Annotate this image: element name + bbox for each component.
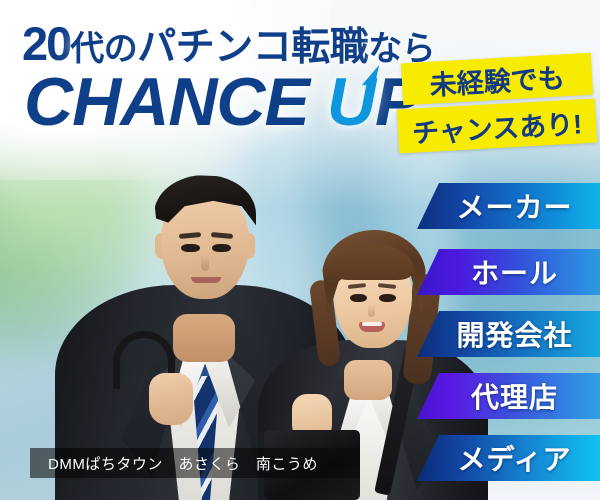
logo-chance-up: CHANCEUP [24,68,419,136]
category-button-media[interactable]: メディア [417,435,600,481]
category-button-developer[interactable]: 開発会社 [417,311,600,357]
category-label-agency: 代理店 [471,376,558,416]
male-mouth [191,277,221,283]
female-neck [344,360,392,400]
headline-rest: 代の [70,30,137,68]
logo-u-arrow: U [327,68,375,136]
headline-number: 20 [22,17,70,70]
female-teeth [362,322,382,326]
male-neck [173,314,235,362]
male-nose [201,255,209,271]
logo-chance: CHANCE [24,64,309,140]
category-label-maker: メーカー [456,186,572,226]
category-button-agency[interactable]: 代理店 [417,373,600,419]
category-button-maker[interactable]: メーカー [417,183,600,229]
male-eye-left [181,244,200,252]
advertisement-banner[interactable]: 20代のパチンコ転職なら CHANCEUP 未経験でも チャンスあり! メーカー… [0,0,600,500]
category-button-hall[interactable]: ホール [417,249,600,295]
badge-chance-label: チャンスあり! [411,102,583,150]
category-label-developer: 開発会社 [456,314,572,354]
credit-bar: DMMぱちタウン あさくら 南こうめ [30,448,360,478]
badge-no-experience-label: 未経験でも [429,56,566,102]
category-label-media: メディア [457,438,571,478]
female-eye-left [350,294,367,302]
female-eye-right [379,294,396,302]
category-label-hall: ホール [471,252,558,292]
male-eye-right [212,244,231,252]
headline-keyword: パチンコ転職 [137,26,368,69]
credit-text: DMMぱちタウン あさくら 南こうめ [30,453,318,474]
male-hand [149,373,193,425]
female-nose [368,304,375,317]
